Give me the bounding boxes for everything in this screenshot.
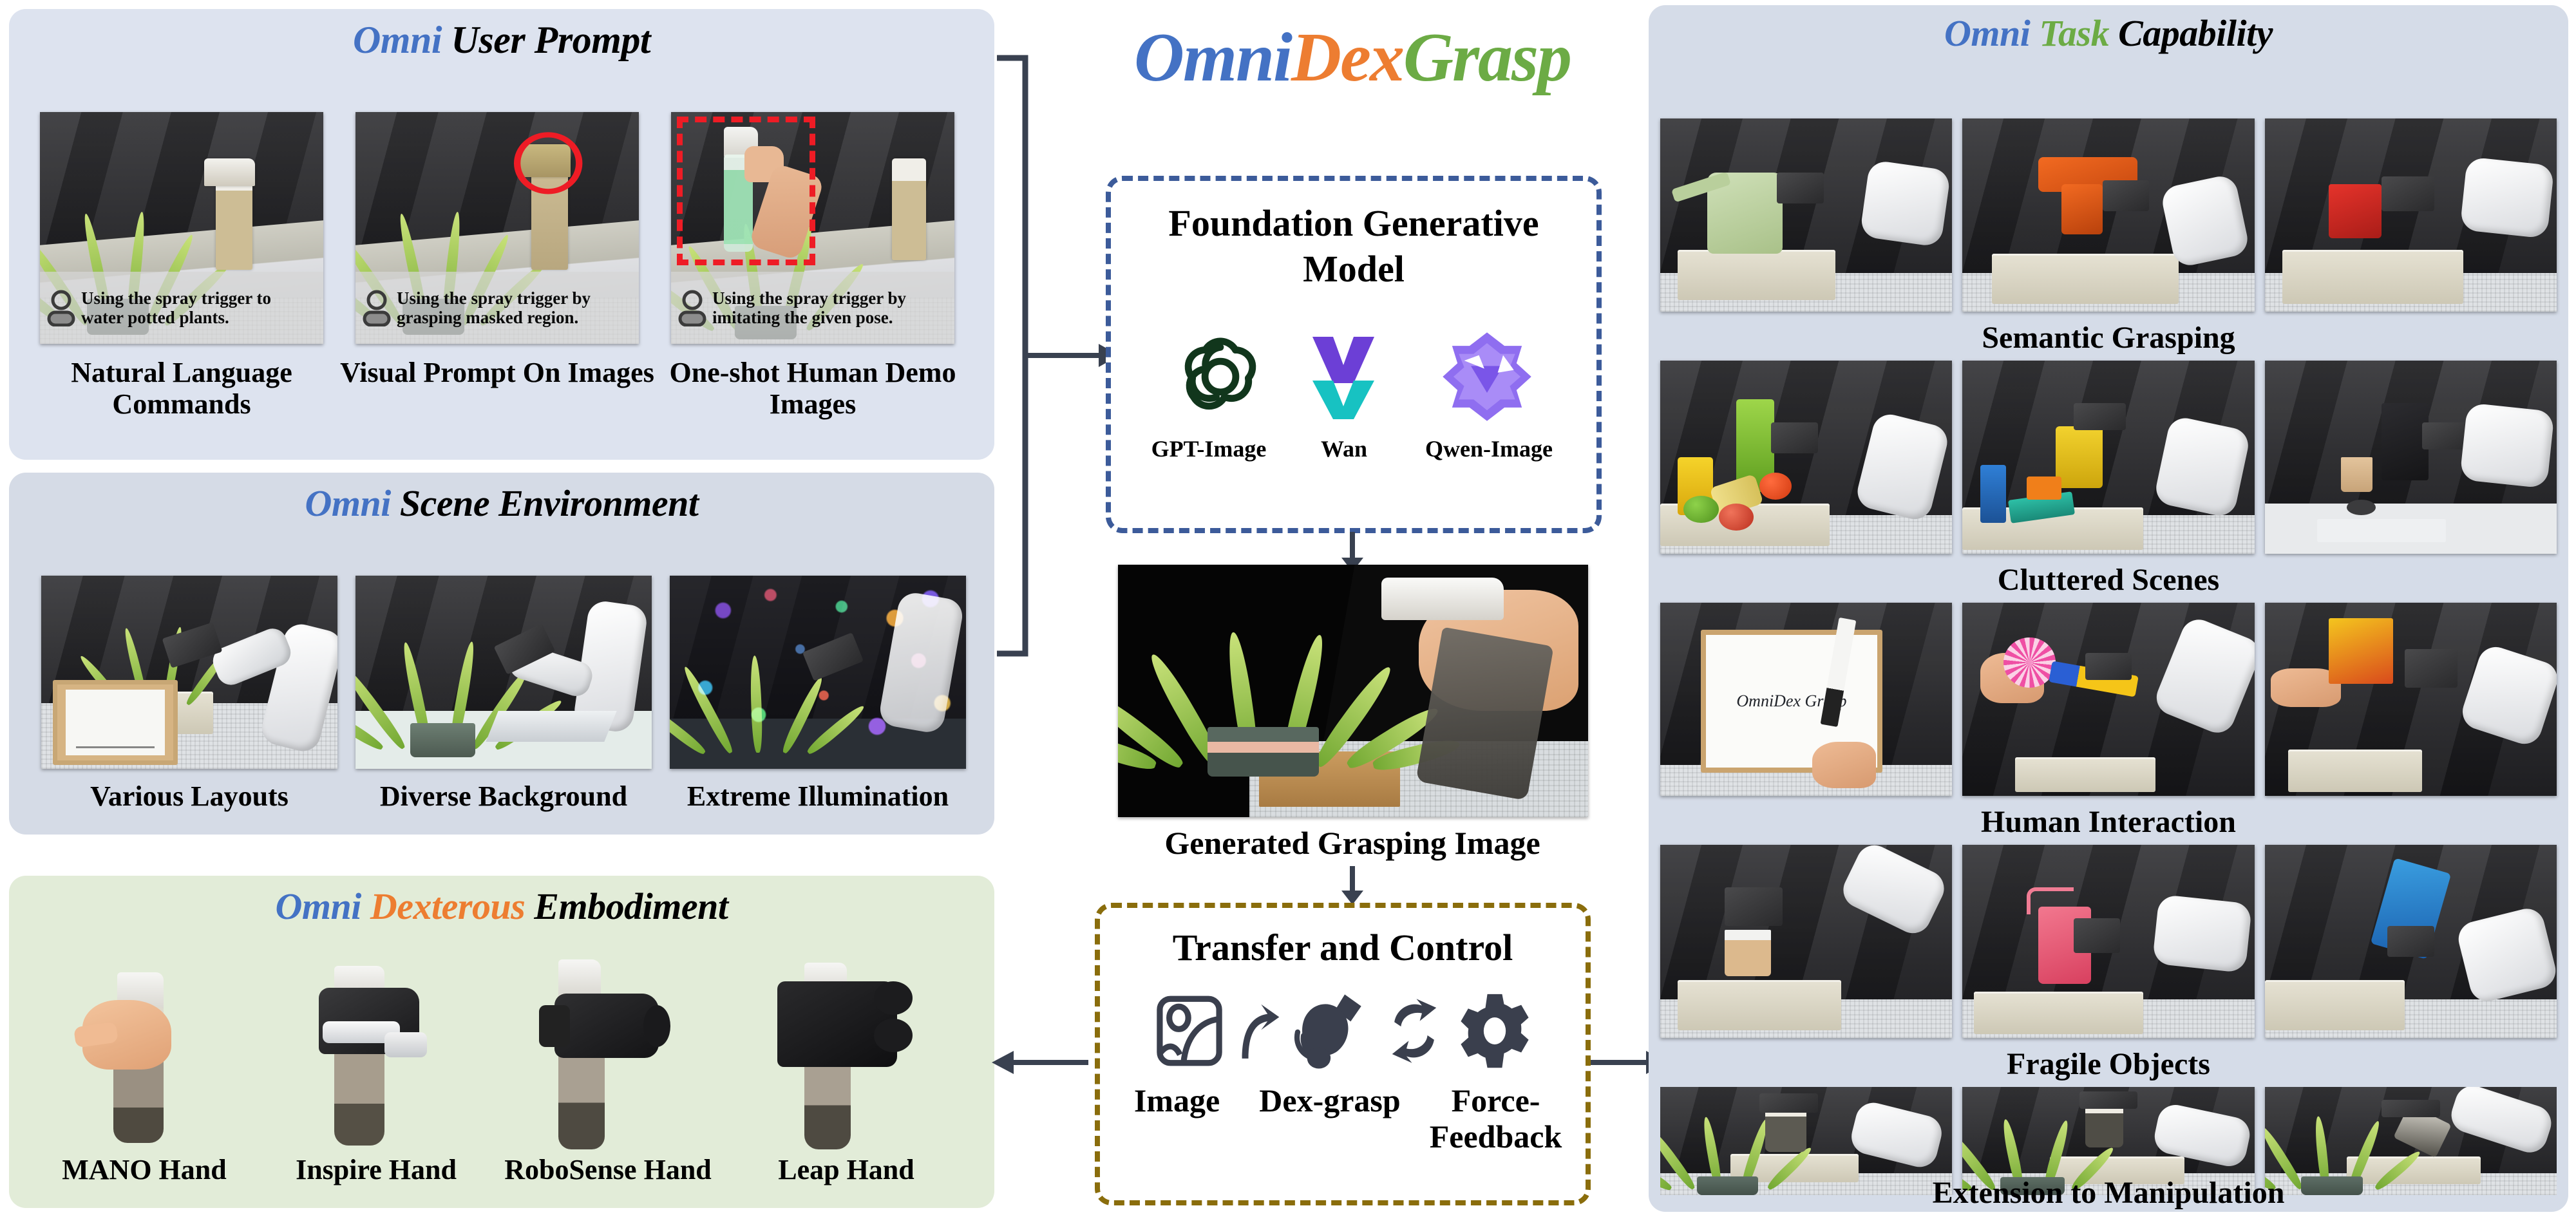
prompt-caption-text: Using the spray trigger by grasping mask… <box>397 288 632 327</box>
prompt-caption-bubble: Using the spray trigger by grasping mask… <box>355 272 639 344</box>
task-tile-watering-can-grasp[interactable] <box>1660 118 1952 312</box>
task-tile-whiteboard-writing[interactable]: OmniDex Grasp <box>1660 603 1952 796</box>
foundation-model-logos <box>1111 312 1596 425</box>
title-emph: Omni <box>305 482 391 524</box>
refresh-cycle-icon <box>1383 997 1445 1064</box>
task-tile-pink-wash-bottle-grasp[interactable] <box>1962 845 2254 1038</box>
person-icon <box>46 289 76 326</box>
transfer-box-title: Transfer and Control <box>1100 926 1586 969</box>
qwen-logo-icon <box>1439 328 1535 425</box>
task-row-label-cluttered-scenes: Cluttered Scenes <box>1649 563 2568 598</box>
title-emph-1: Omni <box>276 885 361 927</box>
task-row-label-human-interaction: Human Interaction <box>1649 805 2568 840</box>
photo-pot <box>1207 727 1319 777</box>
model-label-gpt-image: GPT-Image <box>1125 435 1293 462</box>
wan-logo-icon <box>1309 328 1399 425</box>
foundation-box-title-line1: Foundation Generative <box>1111 202 1596 245</box>
connector-transfer-to-embodiment-arrow <box>985 1043 1095 1082</box>
keyboard-prop <box>486 711 616 742</box>
scene-tile-extreme-illumination[interactable] <box>670 576 966 769</box>
mouse <box>2347 500 2376 515</box>
dexterous-hand-icon <box>1291 992 1373 1070</box>
task-tile-handover-toy-hammer[interactable] <box>1962 603 2254 796</box>
green-pepper <box>1683 496 1718 523</box>
embodiment-label-1: Inspire Hand <box>260 1154 492 1185</box>
task-tile-tool-clutter-grasp[interactable] <box>1962 361 2254 554</box>
human-hand <box>1812 742 1877 788</box>
prompt-photo: Using the spray trigger to water potted … <box>40 112 323 344</box>
task-row-human-interaction: OmniDex Grasp <box>1660 603 2557 796</box>
orange-tool <box>2027 476 2061 500</box>
paper-cup <box>2341 457 2373 492</box>
panel-dexterous-embodiment: Omni Dexterous Embodiment MANO Hand Insp… <box>9 876 994 1208</box>
spray-trigger <box>1381 578 1504 621</box>
photo-plant <box>1142 585 1396 777</box>
task-tile-blue-can-grasp[interactable] <box>2265 845 2557 1038</box>
panel-task-title: Omni Task Capability <box>1649 12 2568 55</box>
prompt-tile-natural-language[interactable]: Using the spray trigger to water potted … <box>40 112 323 344</box>
task-row-label-fragile-objects: Fragile Objects <box>1649 1047 2568 1082</box>
embodiment-label-3: Leap Hand <box>737 1154 956 1185</box>
foundation-model-labels: GPT-Image Wan Qwen-Image <box>1111 435 1596 462</box>
transfer-step-labels: Image Dex-grasp Force- Feedback <box>1100 1082 1586 1155</box>
scene-label-2: Extreme Illumination <box>657 780 979 812</box>
title-emph-2: Task <box>2039 12 2109 54</box>
title-rest: Scene Environment <box>400 482 699 524</box>
prompt-photo: Using the spray trigger by grasping mask… <box>355 112 639 344</box>
bottle-straw <box>2027 887 2074 914</box>
embodiment-label-0: MANO Hand <box>28 1154 260 1185</box>
task-tile-desk-clutter-grasp[interactable] <box>2265 361 2557 554</box>
red-ellipse-mask-icon <box>511 131 585 196</box>
image-icon <box>1151 993 1227 1069</box>
generated-grasping-image-caption: Generated Grasping Image <box>1095 825 1610 861</box>
colored-light-bokeh <box>670 576 966 769</box>
panel-user-prompt: Omni User Prompt <box>9 9 994 460</box>
pink-striped-ball <box>2003 637 2056 688</box>
scene-label-1: Diverse Background <box>343 780 665 812</box>
title-emph: Omni <box>353 19 442 61</box>
pipeline-title-part3: Grasp <box>1403 19 1571 96</box>
embodiment-item-robosense[interactable] <box>508 959 701 1149</box>
monitor-or-tablet <box>2382 403 2429 480</box>
prompt-label-1: Visual Prompt On Images <box>336 357 658 388</box>
model-label-wan: Wan <box>1293 435 1396 462</box>
spray-trigger <box>204 158 255 186</box>
task-tile-paper-cup-grasp[interactable] <box>1660 845 1952 1038</box>
openai-logo-icon <box>1172 328 1269 425</box>
task-row-fragile-objects <box>1660 845 2557 1038</box>
prompt-caption-bubble: Using the spray trigger to water potted … <box>40 272 323 344</box>
yellow-sprayer <box>2056 426 2103 488</box>
task-row-label-semantic-grasping: Semantic Grasping <box>1649 321 2568 355</box>
title-rest: User Prompt <box>451 19 651 61</box>
arrow-generated-to-transfer <box>1333 866 1372 905</box>
prompt-photo: Using the spray trigger by imitating the… <box>671 112 954 344</box>
panel-user-prompt-title: Omni User Prompt <box>9 18 994 62</box>
transfer-label-force-feedback: Force- Feedback <box>1416 1082 1577 1155</box>
gear-icon <box>1455 992 1534 1070</box>
task-row-cluttered-scenes <box>1660 361 2557 554</box>
generated-photo <box>1118 565 1588 817</box>
drill-handle <box>2061 184 2102 234</box>
generated-grasping-image[interactable] <box>1118 565 1588 817</box>
embodiment-label-2: RoboSense Hand <box>486 1154 730 1185</box>
title-rest: Capability <box>2118 12 2273 54</box>
prompt-label-2: One-shot Human Demo Images <box>652 357 974 420</box>
spray-bottle <box>892 158 926 260</box>
embodiment-item-leap[interactable] <box>746 963 940 1149</box>
task-tile-red-mug-grasp[interactable] <box>2265 118 2557 312</box>
force-feedback-line2: Feedback <box>1416 1118 1577 1155</box>
title-emph-1: Omni <box>1944 12 2030 54</box>
prompt-caption-bubble: Using the spray trigger by imitating the… <box>671 272 954 344</box>
task-tile-handover-snack-box[interactable] <box>2265 603 2557 796</box>
embodiment-item-inspire[interactable] <box>276 966 469 1149</box>
prompt-label-0: Natural Language Commands <box>21 357 343 420</box>
person-icon <box>677 289 707 326</box>
title-rest: Embodiment <box>534 885 728 927</box>
task-row-semantic-grasping <box>1660 118 2557 312</box>
tomato <box>1759 473 1792 500</box>
transfer-step-icons <box>1100 986 1586 1076</box>
scene-photo <box>41 576 337 769</box>
prompt-caption-text: Using the spray trigger by imitating the… <box>712 288 948 327</box>
embodiment-item-mano[interactable] <box>48 972 241 1146</box>
curved-arrow-icon <box>1238 999 1280 1063</box>
photo-pot <box>410 723 475 757</box>
task-row-label-extension-to-manipulation: Extension to Manipulation <box>1649 1176 2568 1211</box>
apple <box>1719 504 1754 531</box>
red-mug <box>2329 184 2382 238</box>
scene-label-0: Various Layouts <box>28 780 350 812</box>
transfer-label-dex-grasp: Dex-grasp <box>1245 1082 1416 1118</box>
person-icon <box>362 289 392 326</box>
figure-root: Omni User Prompt <box>0 0 2576 1217</box>
keyboard <box>2317 519 2445 542</box>
prompt-caption-text: Using the spray trigger to water potted … <box>81 288 317 327</box>
foundation-box-title-line2: Model <box>1111 247 1596 290</box>
foundation-generative-model-box[interactable]: Foundation Generative Model <box>1106 176 1602 533</box>
prompt-tile-one-shot-demo[interactable]: Using the spray trigger by imitating the… <box>671 112 954 344</box>
spray-bottle <box>2085 1102 2123 1148</box>
pipeline-title-part1: Omni <box>1134 19 1291 96</box>
panel-scene-title: Omni Scene Environment <box>9 482 994 525</box>
panel-scene-environment: Omni Scene Environment <box>9 473 994 835</box>
model-label-qwen-image: Qwen-Image <box>1396 435 1582 462</box>
whiteboard-frame <box>53 680 177 765</box>
snack-box <box>2329 618 2393 684</box>
panel-embodiment-title: Omni Dexterous Embodiment <box>9 885 994 928</box>
pipeline-title-part2: Dex <box>1291 19 1403 96</box>
scene-photo <box>670 576 966 769</box>
task-tile-grocery-clutter-grasp[interactable] <box>1660 361 1952 554</box>
scene-tile-diverse-background[interactable] <box>355 576 652 769</box>
blue-roller <box>1980 465 2007 523</box>
title-emph-2: Dexterous <box>370 885 525 927</box>
paper-cup <box>1725 930 1772 976</box>
panel-task-capability: Omni Task Capability <box>1649 5 2568 1212</box>
pipeline-title: OmniDexGrasp <box>1069 18 1636 98</box>
transfer-and-control-box[interactable]: Transfer and Control <box>1095 903 1591 1205</box>
transfer-label-image: Image <box>1110 1082 1245 1118</box>
force-feedback-line1: Force- <box>1416 1082 1577 1118</box>
task-tile-power-drill-grasp[interactable] <box>1962 118 2254 312</box>
scene-photo <box>355 576 652 769</box>
red-dashed-rect-icon <box>677 117 816 265</box>
scene-tile-various-layouts[interactable] <box>41 576 337 769</box>
prompt-tile-visual-prompt[interactable]: Using the spray trigger by grasping mask… <box>355 112 639 344</box>
